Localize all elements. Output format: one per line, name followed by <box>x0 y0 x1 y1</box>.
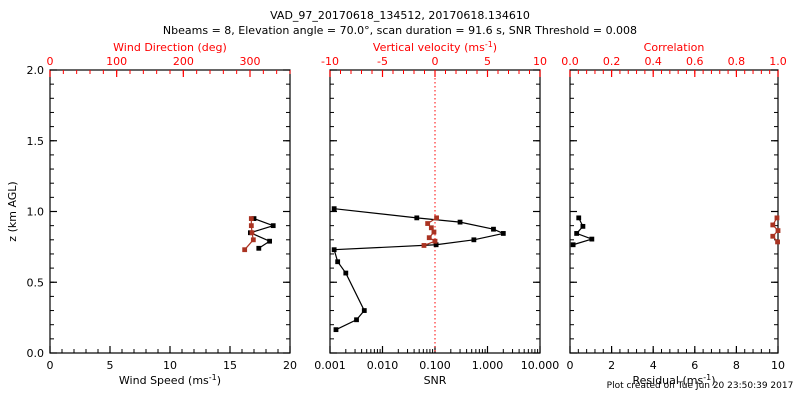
panel-1-frame <box>50 70 290 353</box>
panel-3-xticklabel: 10 <box>771 359 785 372</box>
panel-3-xticklabel-top: 0.2 <box>603 55 621 68</box>
panel-1-xaxis-label-top: Wind Direction (deg) <box>113 41 227 54</box>
yaxis-ticklabel: 1.0 <box>27 206 45 219</box>
panel-3-xticklabel-top: 0.0 <box>561 55 579 68</box>
panel-2-data-point <box>334 327 339 332</box>
panel-2-xticklabel-top: 0 <box>432 55 439 68</box>
panel-3-frame <box>570 70 778 353</box>
panel-1-xticklabel: 5 <box>107 359 114 372</box>
plot-timestamp: Plot created on Tue Jun 20 23:50:39 2017 <box>600 381 800 391</box>
panel-3-xaxis-label-top: Correlation <box>644 41 705 54</box>
panel-1-xticklabel: 15 <box>223 359 237 372</box>
panel-1-xticklabel: 10 <box>163 359 177 372</box>
panel-1-data-point <box>250 230 255 235</box>
panel-2-data-point <box>491 227 496 232</box>
panel-2-data-point <box>425 221 430 226</box>
panel-3-xticklabel: 2 <box>608 359 615 372</box>
panel-2-series-line <box>334 209 503 330</box>
panel-2-xticklabel-top: 10 <box>533 55 547 68</box>
panel-1-xticklabel: 20 <box>283 359 297 372</box>
panel-1-xticklabel: 0 <box>47 359 54 372</box>
yaxis-ticklabel: 2.0 <box>27 64 45 77</box>
panel-1-xticklabel-top: 300 <box>240 55 261 68</box>
yaxis-ticklabel: 0.5 <box>27 276 45 289</box>
panel-2-data-point <box>434 215 439 220</box>
panel-3-data-point <box>775 240 780 245</box>
yaxis-ticklabel: 0.0 <box>27 347 45 360</box>
panel-1-data-point <box>242 247 247 252</box>
panel-2-data-point <box>354 317 359 322</box>
panel-3-data-point <box>770 234 775 239</box>
panel-2-data-point <box>433 239 438 244</box>
panel-2-data-point <box>335 259 340 264</box>
panel-2-xticklabel: 1.000 <box>472 359 504 372</box>
yaxis-ticklabel: 1.5 <box>27 135 45 148</box>
panel-1-data-point <box>251 237 256 242</box>
panel-3-data-point <box>574 231 579 236</box>
panel-2-data-point <box>414 215 419 220</box>
panel-2-data-point <box>427 235 432 240</box>
panel-2-xticklabel-top: 5 <box>484 55 491 68</box>
panel-1-data-point <box>271 223 276 228</box>
panel-3-data-point <box>589 237 594 242</box>
panel-3-data-point <box>581 224 586 229</box>
panel-3-data-point <box>571 242 576 247</box>
panel-3-data-point <box>770 223 775 228</box>
panel-2-data-point <box>332 247 337 252</box>
panel-3-xticklabel-top: 0.4 <box>644 55 662 68</box>
panel-1-xticklabel-top: 200 <box>173 55 194 68</box>
panel-2-data-point <box>471 237 476 242</box>
panel-3-data-point <box>775 215 780 220</box>
panel-2-xaxis-label-top: Vertical velocity (ms-1) <box>373 40 497 54</box>
panel-1-xticklabel-top: 0 <box>47 55 54 68</box>
panel-3-xticklabel-top: 0.6 <box>686 55 704 68</box>
panel-2-data-point <box>432 230 437 235</box>
panel-2-data-point <box>501 231 506 236</box>
panel-3-xticklabel-top: 0.8 <box>728 55 746 68</box>
panel-2-xticklabel: 0.100 <box>419 359 451 372</box>
panel-3-xticklabel: 4 <box>650 359 657 372</box>
panel-2-data-point <box>343 271 348 276</box>
panel-3-xticklabel: 8 <box>733 359 740 372</box>
panel-1-xaxis-label: Wind Speed (ms-1) <box>119 373 221 387</box>
panel-3-xticklabel: 0 <box>567 359 574 372</box>
panel-2-xticklabel: 10.000 <box>521 359 560 372</box>
panel-1-data-point <box>256 246 261 251</box>
yaxis-label: z (km AGL) <box>6 181 19 241</box>
panel-1-data-point <box>249 223 254 228</box>
panel-1-xticklabel-top: 100 <box>106 55 127 68</box>
panel-2-xticklabel: 0.010 <box>367 359 399 372</box>
panel-2-data-point <box>362 308 367 313</box>
panel-2-data-point <box>458 220 463 225</box>
panel-2-xticklabel-top: -10 <box>321 55 339 68</box>
panel-3-xticklabel-top: 1.0 <box>769 55 787 68</box>
panel-2-xticklabel: 0.001 <box>314 359 346 372</box>
panel-3-xticklabel: 6 <box>691 359 698 372</box>
panel-2-data-point <box>429 225 434 230</box>
panel-1-data-point <box>267 239 272 244</box>
panel-3-data-point <box>576 215 581 220</box>
panel-2-data-point <box>332 206 337 211</box>
plot-canvas: VAD_97_20170618_134512, 20170618.134610 … <box>0 0 800 400</box>
panel-2-data-point <box>422 243 427 248</box>
panel-1-data-point <box>249 216 254 221</box>
panel-3-data-point <box>776 228 781 233</box>
panel-2-xaxis-label: SNR <box>424 374 447 387</box>
panel-2-xticklabel-top: -5 <box>377 55 388 68</box>
vad-figure: 05101520Wind Speed (ms-1)0100200300Wind … <box>0 0 800 400</box>
